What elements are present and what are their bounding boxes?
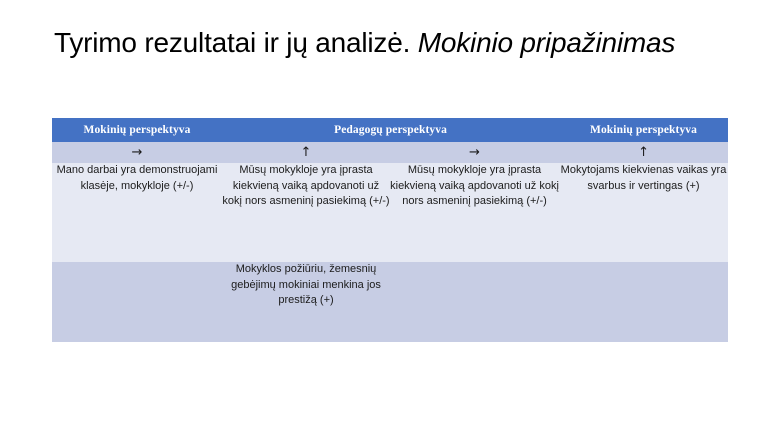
perspectives-table: Mokinių perspektyva Pedagogų perspektyva… bbox=[52, 118, 728, 342]
arrow-up-icon: ↑ bbox=[559, 142, 728, 163]
cell-text: Mano darbai yra demonstruojami klasėje, … bbox=[52, 163, 222, 194]
table-arrow-row: → ↑ → ↑ bbox=[52, 142, 728, 163]
table-header-row: Mokinių perspektyva Pedagogų perspektyva… bbox=[52, 118, 728, 142]
arrow-right-icon: → bbox=[390, 142, 559, 163]
cell-text: Mokyklos požiūriu, žemesnių gebėjimų mok… bbox=[222, 262, 390, 309]
table-cell bbox=[52, 262, 222, 342]
cell-text: Mūsų mokykloje yra įprasta kiekvieną vai… bbox=[222, 163, 390, 210]
table-row: Mano darbai yra demonstruojami klasėje, … bbox=[52, 163, 728, 262]
table-cell: Mano darbai yra demonstruojami klasėje, … bbox=[52, 163, 222, 262]
table-cell: Mūsų mokykloje yra įprasta kiekvieną vai… bbox=[222, 163, 390, 262]
table-cell bbox=[559, 262, 728, 342]
table-cell: Mokyklos požiūriu, žemesnių gebėjimų mok… bbox=[222, 262, 390, 342]
table-cell bbox=[390, 262, 559, 342]
table-cell: Mokytojams kiekvienas vaikas yra svarbus… bbox=[559, 163, 728, 262]
column-header-teachers: Pedagogų perspektyva bbox=[222, 118, 559, 142]
page-title-emphasis: Mokinio pripažinimas bbox=[418, 27, 675, 58]
table-row: Mokyklos požiūriu, žemesnių gebėjimų mok… bbox=[52, 262, 728, 342]
table-cell: Mūsų mokykloje yra įprasta kiekvieną vai… bbox=[390, 163, 559, 262]
page-title-main: Tyrimo rezultatai ir jų analizė. bbox=[54, 27, 418, 58]
page-title: Tyrimo rezultatai ir jų analizė. Mokinio… bbox=[54, 24, 734, 61]
column-header-students-right: Mokinių perspektyva bbox=[559, 118, 728, 142]
cell-text: Mūsų mokykloje yra įprasta kiekvieną vai… bbox=[390, 163, 559, 210]
column-header-students-left: Mokinių perspektyva bbox=[52, 118, 222, 142]
cell-text: Mokytojams kiekvienas vaikas yra svarbus… bbox=[559, 163, 728, 194]
arrow-right-icon: → bbox=[52, 142, 222, 163]
arrow-up-icon: ↑ bbox=[222, 142, 390, 163]
